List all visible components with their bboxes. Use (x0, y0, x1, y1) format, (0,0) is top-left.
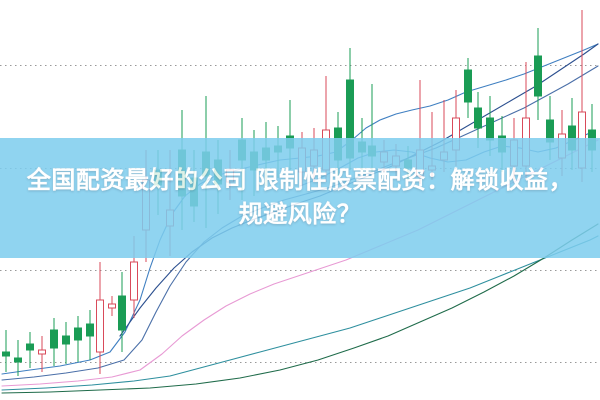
candle-body (131, 262, 138, 300)
candle-body (487, 118, 494, 140)
stock-chart-image: 全国配资最好的公司 限制性股票配资：解锁收益， 规避风险？ (0, 0, 600, 400)
candle-body (51, 330, 58, 348)
candle-body (109, 304, 116, 308)
candle-body (97, 300, 104, 352)
candle-body (27, 344, 34, 350)
candle-body (63, 336, 70, 344)
candle-body (119, 296, 126, 330)
banner-title-line-1: 全国配资最好的公司 限制性股票配资：解锁收益， (27, 164, 573, 198)
candle-body (75, 328, 82, 340)
title-overlay-banner: 全国配资最好的公司 限制性股票配资：解锁收益， 规避风险？ (0, 138, 600, 258)
candle-body (475, 108, 482, 128)
candle-body (15, 358, 22, 362)
candle-body (535, 56, 542, 96)
candle-body (87, 324, 94, 336)
candle-body (39, 350, 46, 354)
banner-title-line-2: 规避风险？ (239, 198, 362, 232)
candle-body (465, 70, 472, 102)
candle-body (3, 352, 10, 356)
